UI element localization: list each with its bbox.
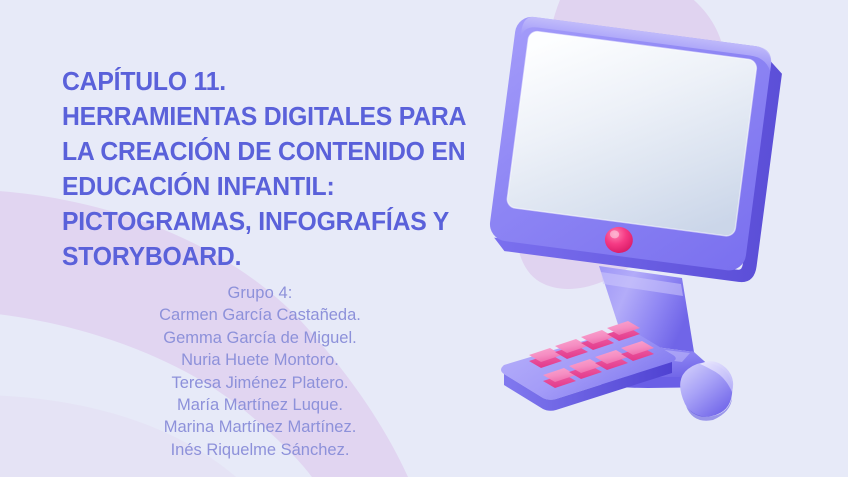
monitor-screen [506,30,757,236]
monitor-3d [487,15,785,284]
author-name: Gemma García de Miguel. [40,327,480,349]
slide-title: CAPÍTULO 11. HERRAMIENTAS DIGITALES PARA… [62,65,469,275]
computer-svg [460,0,848,477]
text-column: CAPÍTULO 11. HERRAMIENTAS DIGITALES PARA… [0,0,500,477]
author-name: Teresa Jiménez Platero. [40,372,480,394]
mouse-3d [680,361,733,420]
author-name: Inés Riquelme Sánchez. [40,439,480,461]
presentation-slide: CAPÍTULO 11. HERRAMIENTAS DIGITALES PARA… [0,0,848,477]
group-label: Grupo 4: [40,282,480,304]
authors-block: Grupo 4: Carmen García Castañeda. Gemma … [40,282,480,461]
author-name: María Martínez Luque. [40,394,480,416]
author-name: Carmen García Castañeda. [40,304,480,326]
author-name: Marina Martínez Martínez. [40,416,480,438]
author-name: Nuria Huete Montoro. [40,349,480,371]
desktop-computer-illustration [460,0,848,477]
